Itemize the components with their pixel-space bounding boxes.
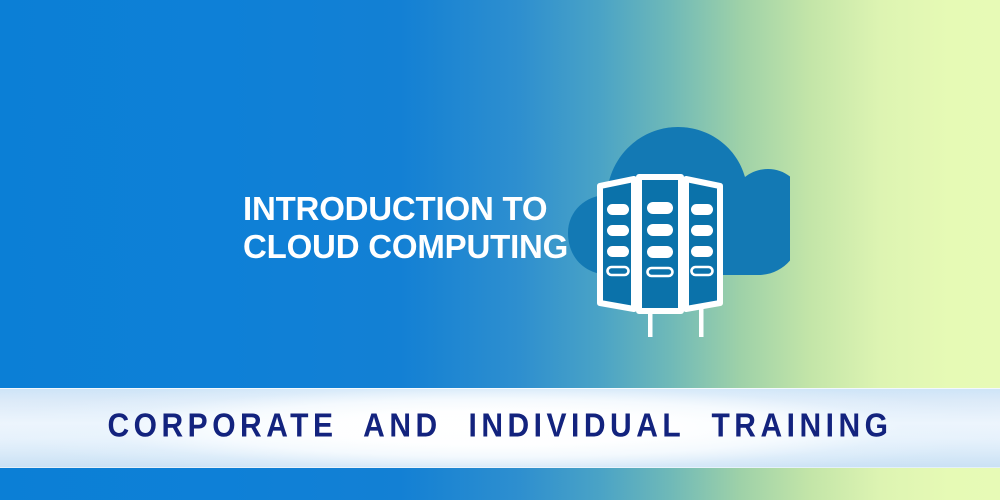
page-title-line-1: INTRODUCTION TO bbox=[243, 190, 573, 228]
cloud-server-icon bbox=[560, 95, 790, 340]
page-title-line-2: CLOUD COMPUTING bbox=[243, 228, 573, 266]
server-rack-right bbox=[686, 179, 720, 309]
footer-strip-label: CORPORATE AND INDIVIDUAL TRAINING bbox=[0, 404, 1000, 449]
page-title: INTRODUCTION TO CLOUD COMPUTING bbox=[243, 190, 573, 266]
footer-strip-top-edge bbox=[0, 388, 1000, 389]
course-promo-banner: INTRODUCTION TO CLOUD COMPUTING bbox=[0, 0, 1000, 500]
server-rack-center bbox=[639, 177, 681, 311]
server-rack-left bbox=[600, 179, 634, 309]
footer-strip-bottom-edge bbox=[0, 467, 1000, 468]
